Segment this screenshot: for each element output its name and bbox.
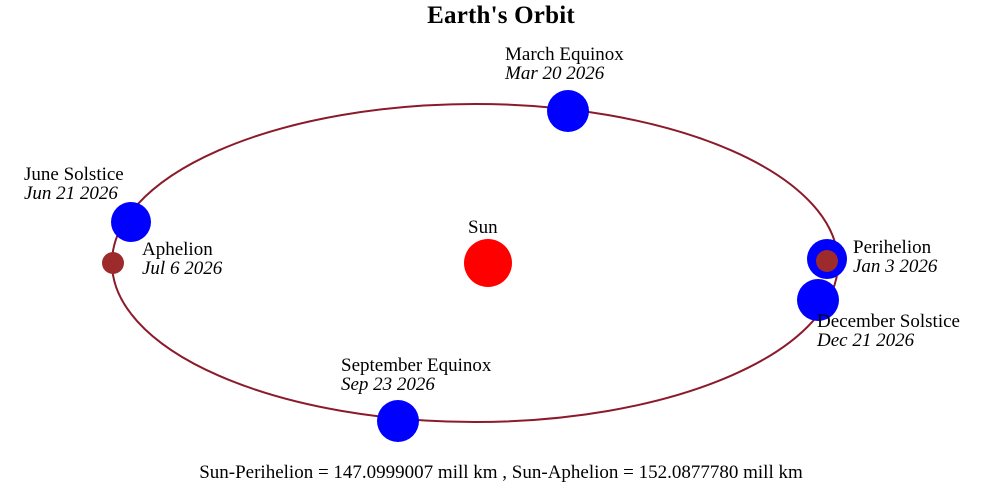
marker-aphelion [102, 252, 124, 274]
label-december-solstice-date: Dec 21 2026 [817, 331, 960, 350]
label-december-solstice-name: December Solstice [817, 312, 960, 331]
marker-june-solstice [111, 202, 151, 242]
label-june-solstice: June Solstice Jun 21 2026 [24, 165, 124, 204]
label-perihelion-name: Perihelion [853, 238, 937, 257]
label-march-equinox-date: Mar 20 2026 [505, 64, 624, 83]
sun-marker [464, 239, 512, 287]
label-aphelion: Aphelion Jul 6 2026 [142, 240, 222, 279]
label-aphelion-date: Jul 6 2026 [142, 259, 222, 278]
label-aphelion-name: Aphelion [142, 240, 222, 259]
marker-march-equinox [547, 90, 589, 132]
label-perihelion-date: Jan 3 2026 [853, 257, 937, 276]
marker-september-equinox [377, 400, 419, 442]
earth-orbit-diagram: Earth's Orbit Sun March Equinox Mar 20 2… [0, 0, 1002, 498]
label-september-equinox-date: Sep 23 2026 [341, 375, 491, 394]
label-perihelion: Perihelion Jan 3 2026 [853, 238, 937, 277]
marker-perihelion [816, 250, 838, 272]
label-june-solstice-name: June Solstice [24, 165, 124, 184]
sun-label: Sun [468, 217, 498, 239]
label-march-equinox: March Equinox Mar 20 2026 [505, 45, 624, 84]
label-september-equinox-name: September Equinox [341, 356, 491, 375]
label-march-equinox-name: March Equinox [505, 45, 624, 64]
label-december-solstice: December Solstice Dec 21 2026 [817, 312, 960, 351]
distance-caption: Sun-Perihelion = 147.0999007 mill km , S… [0, 462, 1002, 484]
label-june-solstice-date: Jun 21 2026 [24, 184, 124, 203]
label-september-equinox: September Equinox Sep 23 2026 [341, 356, 491, 395]
